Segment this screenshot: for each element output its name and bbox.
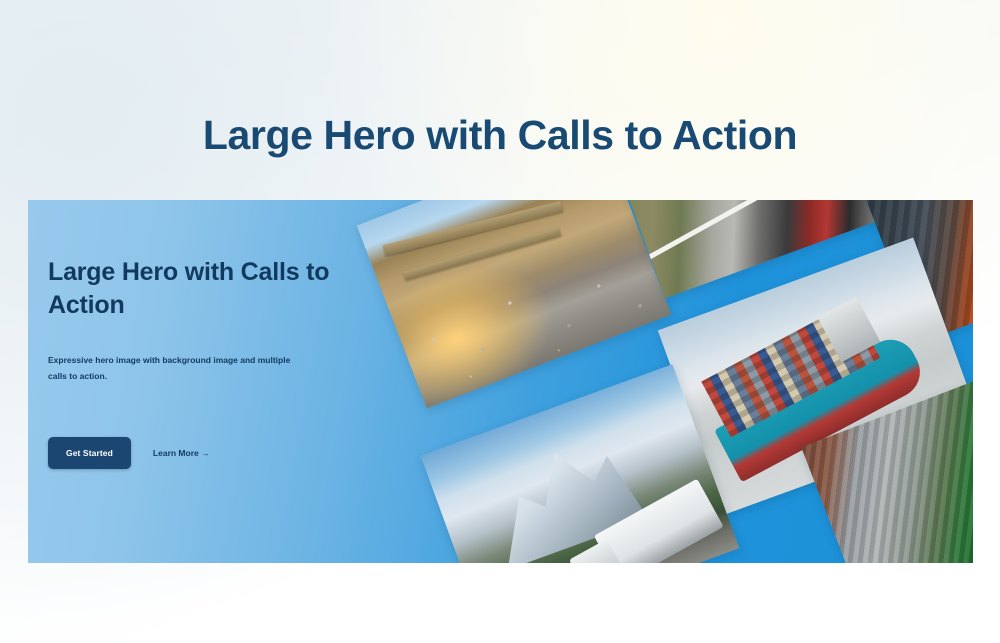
hero-title: Large Hero with Calls to Action [48, 256, 348, 322]
ship-containers [701, 302, 879, 437]
page-title: Large Hero with Calls to Action [0, 109, 1000, 161]
cargo-ship-photo [658, 237, 973, 514]
rail-beam [383, 201, 564, 256]
hero-subtitle: Expressive hero image with background im… [48, 352, 298, 384]
collage-image-truck-road [605, 200, 883, 298]
page-root: Large Hero with Calls to Action [0, 0, 1000, 643]
hero-content: Large Hero with Calls to Action Expressi… [48, 256, 348, 469]
snowy-peak [473, 423, 649, 563]
collage-image-mountain-truck [421, 364, 740, 563]
rail-beam [403, 227, 562, 280]
collage-image-rail-yard [801, 358, 973, 563]
rail-sunset-photo [357, 200, 672, 408]
hero-cta-group: Get Started Learn More → [48, 437, 348, 469]
truck-cab [569, 539, 627, 563]
collage-image-rail-sunset [357, 200, 672, 408]
ship-superstructure [817, 297, 879, 362]
rail-yard-photo [801, 358, 973, 563]
ship-hull [714, 331, 929, 483]
get-started-button[interactable]: Get Started [48, 437, 131, 469]
port-cranes-photo [859, 200, 973, 343]
hero-banner: Large Hero with Calls to Action Expressi… [28, 200, 973, 563]
collage-image-cargo-ship [658, 237, 973, 514]
mountain-truck-photo [421, 364, 740, 563]
truck-trailer [594, 479, 724, 563]
road-lane-stripe [630, 200, 883, 270]
learn-more-link[interactable]: Learn More → [153, 448, 210, 458]
truck-road-photo [605, 200, 883, 298]
collage-image-port-cranes [859, 200, 973, 343]
